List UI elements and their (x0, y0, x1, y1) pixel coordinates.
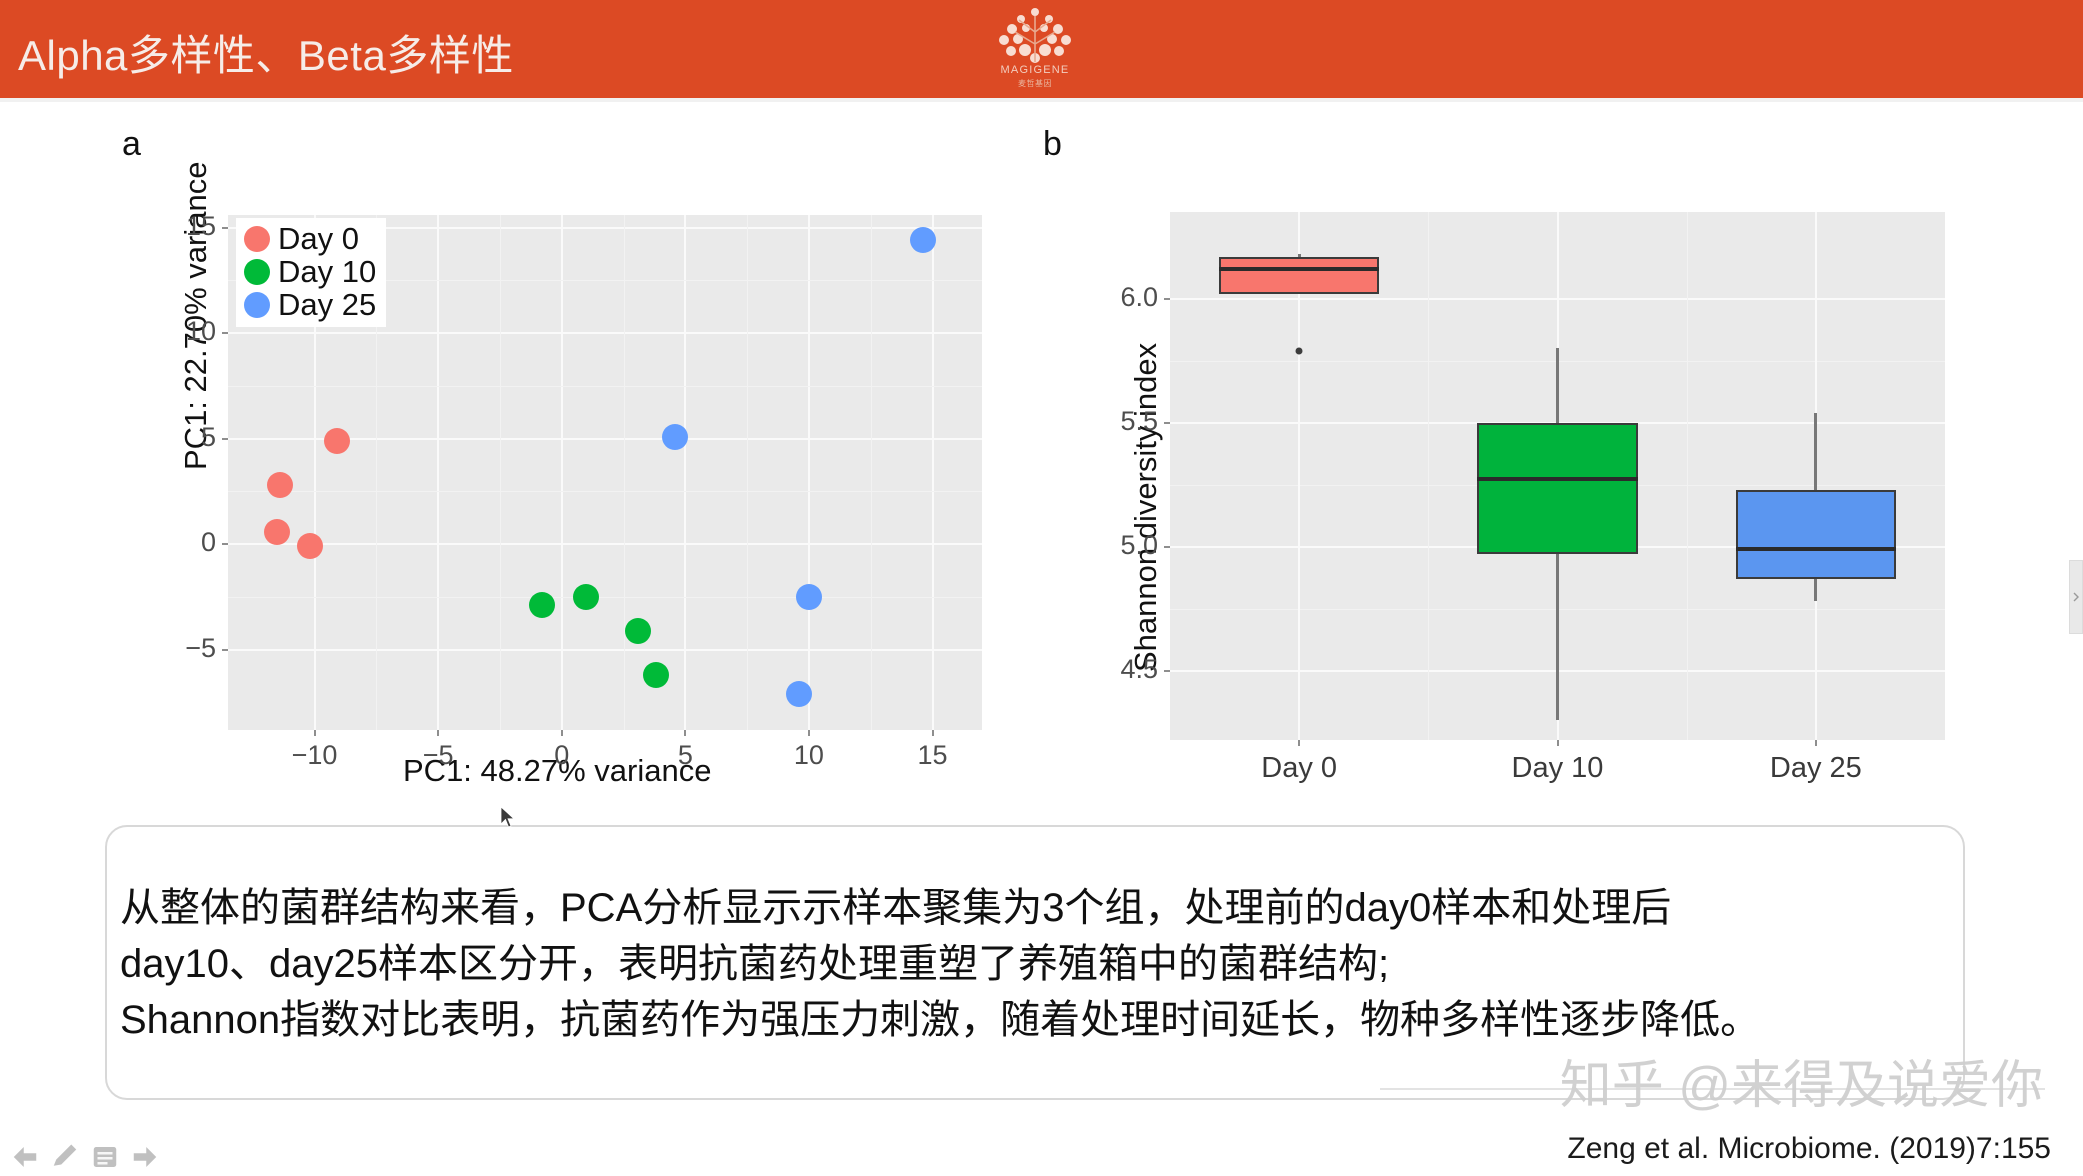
scatter-y-tick-mark (222, 332, 228, 334)
boxplot-y-axis-title: Shannon diversity index (1128, 343, 1164, 672)
gridline (1428, 212, 1429, 740)
scatter-legend: Day 0 Day 10 Day 25 (236, 218, 386, 327)
legend-label-day0: Day 0 (278, 221, 359, 257)
boxplot-box-day-25 (1736, 490, 1896, 579)
legend-swatch-day10 (244, 259, 270, 285)
scatter-y-tick-label: 0 (0, 527, 216, 558)
scatter-y-tick-label: 15 (0, 211, 216, 242)
logo-tree-icon (985, 6, 1085, 64)
boxplot-y-tick-label: 5.0 (1078, 530, 1158, 561)
boxplot-y-tick-mark (1164, 298, 1170, 300)
scatter-x-tick-label: 15 (893, 740, 973, 771)
forward-arrow-icon[interactable] (128, 1142, 162, 1172)
scatter-point-day-0 (324, 428, 350, 454)
legend-item-day25: Day 25 (244, 288, 376, 321)
boxplot-outlier (1296, 347, 1303, 354)
gridline (228, 597, 982, 598)
boxplot-y-tick-label: 5.5 (1078, 406, 1158, 437)
scatter-x-tick-mark (932, 730, 934, 736)
boxplot-y-tick-label: 4.5 (1078, 654, 1158, 685)
gridline (561, 215, 563, 730)
scatter-point-day-10 (573, 584, 599, 610)
boxplot-x-tick-mark (1815, 740, 1817, 746)
caption-line-1: 从整体的菌群结构来看，PCA分析显示示样本聚集为3个组，处理前的day0样本和处… (120, 880, 1950, 936)
boxplot-box-day-10 (1477, 423, 1637, 554)
boxplot-y-tick-mark (1164, 670, 1170, 672)
citation-text: Zeng et al. Microbiome. (2019)7:155 (1567, 1132, 2051, 1166)
logo-wordmark: MAGIGENE (985, 64, 1085, 76)
boxplot-category-label: Day 10 (1512, 752, 1604, 785)
boxplot-x-tick-mark (1557, 740, 1559, 746)
presenter-toolbar[interactable] (8, 1142, 162, 1172)
legend-swatch-day25 (244, 292, 270, 318)
logo-subtitle: 麦哲基因 (985, 78, 1085, 89)
gridline (228, 332, 982, 334)
panel-a-label: a (122, 125, 141, 164)
mouse-cursor-icon (500, 806, 518, 830)
gridline (684, 215, 686, 730)
chevron-right-icon (2071, 592, 2081, 602)
boxplot-median-line (1219, 267, 1379, 271)
slide-header: Alpha多样性、Beta多样性 MAGIGENE 麦哲基因 (0, 0, 2083, 98)
gridline (808, 215, 810, 730)
page-title: Alpha多样性、Beta多样性 (18, 22, 514, 83)
legend-item-day10: Day 10 (244, 255, 376, 288)
boxplot-median-line (1736, 547, 1896, 551)
scatter-x-tick-mark (314, 730, 316, 736)
notes-icon[interactable] (88, 1142, 122, 1172)
scatter-x-tick-label: 10 (769, 740, 849, 771)
boxplot-y-tick-label: 6.0 (1078, 282, 1158, 313)
gridline (500, 215, 501, 730)
magigene-logo: MAGIGENE 麦哲基因 (985, 6, 1085, 94)
header-divider (0, 98, 2083, 102)
scatter-y-tick-label: 10 (0, 316, 216, 347)
scatter-x-tick-label: −10 (275, 740, 355, 771)
gridline (871, 215, 872, 730)
scatter-x-tick-mark (684, 730, 686, 736)
scatter-x-tick-label: 5 (645, 740, 725, 771)
scatter-point-day-25 (910, 227, 936, 253)
gridline (932, 215, 934, 730)
boxplot-box-day-0 (1219, 257, 1379, 294)
gridline (228, 649, 982, 651)
scatter-point-day-25 (796, 584, 822, 610)
boxplot-median-line (1477, 477, 1637, 481)
gridline (624, 215, 625, 730)
scatter-point-day-25 (662, 424, 688, 450)
scatter-y-tick-mark (222, 543, 228, 545)
scatter-y-tick-label: −5 (0, 633, 216, 664)
legend-label-day25: Day 25 (278, 287, 376, 323)
scatter-y-tick-mark (222, 438, 228, 440)
caption-line-3: Shannon指数对比表明，抗菌药作为强压力刺激，随着处理时间延长，物种多样性逐… (120, 992, 1950, 1048)
boxplot-category-label: Day 0 (1261, 752, 1337, 785)
gridline (228, 491, 982, 492)
gridline (228, 543, 982, 545)
legend-label-day10: Day 10 (278, 254, 376, 290)
scroll-thumb[interactable] (2069, 560, 2083, 634)
caption-line-2: day10、day25样本区分开，表明抗菌药处理重塑了养殖箱中的菌群结构; (120, 936, 1950, 992)
back-arrow-icon[interactable] (8, 1142, 42, 1172)
boxplot-category-label: Day 25 (1770, 752, 1862, 785)
scatter-point-day-0 (297, 533, 323, 559)
watermark-text: 知乎 @来得及说爱你 (1560, 1043, 2043, 1118)
gridline (1687, 212, 1688, 740)
caption-text: 从整体的菌群结构来看，PCA分析显示示样本聚集为3个组，处理前的day0样本和处… (120, 880, 1950, 1048)
boxplot-x-tick-mark (1298, 740, 1300, 746)
panel-b-label: b (1043, 125, 1062, 164)
legend-item-day0: Day 0 (244, 222, 376, 255)
pen-icon[interactable] (48, 1142, 82, 1172)
gridline (747, 215, 748, 730)
boxplot-y-tick-mark (1164, 546, 1170, 548)
scatter-y-tick-label: 5 (0, 422, 216, 453)
legend-swatch-day0 (244, 226, 270, 252)
shannon-boxplot-plot (1170, 212, 1945, 740)
scatter-x-tick-mark (437, 730, 439, 736)
scatter-point-day-0 (267, 472, 293, 498)
slide-root: Alpha多样性、Beta多样性 MAGIGENE 麦哲基因 (0, 0, 2083, 1176)
scatter-y-tick-mark (222, 227, 228, 229)
scatter-point-day-10 (625, 618, 651, 644)
gridline (437, 215, 439, 730)
scatter-point-day-10 (529, 592, 555, 618)
scatter-x-tick-mark (808, 730, 810, 736)
scatter-point-day-0 (264, 519, 290, 545)
gridline (228, 386, 982, 387)
scatter-point-day-25 (786, 681, 812, 707)
scatter-x-tick-label: −5 (398, 740, 478, 771)
scatter-point-day-10 (643, 662, 669, 688)
scatter-x-tick-label: 0 (522, 740, 602, 771)
boxplot-y-tick-mark (1164, 422, 1170, 424)
scatter-x-tick-mark (561, 730, 563, 736)
scatter-y-tick-mark (222, 649, 228, 651)
